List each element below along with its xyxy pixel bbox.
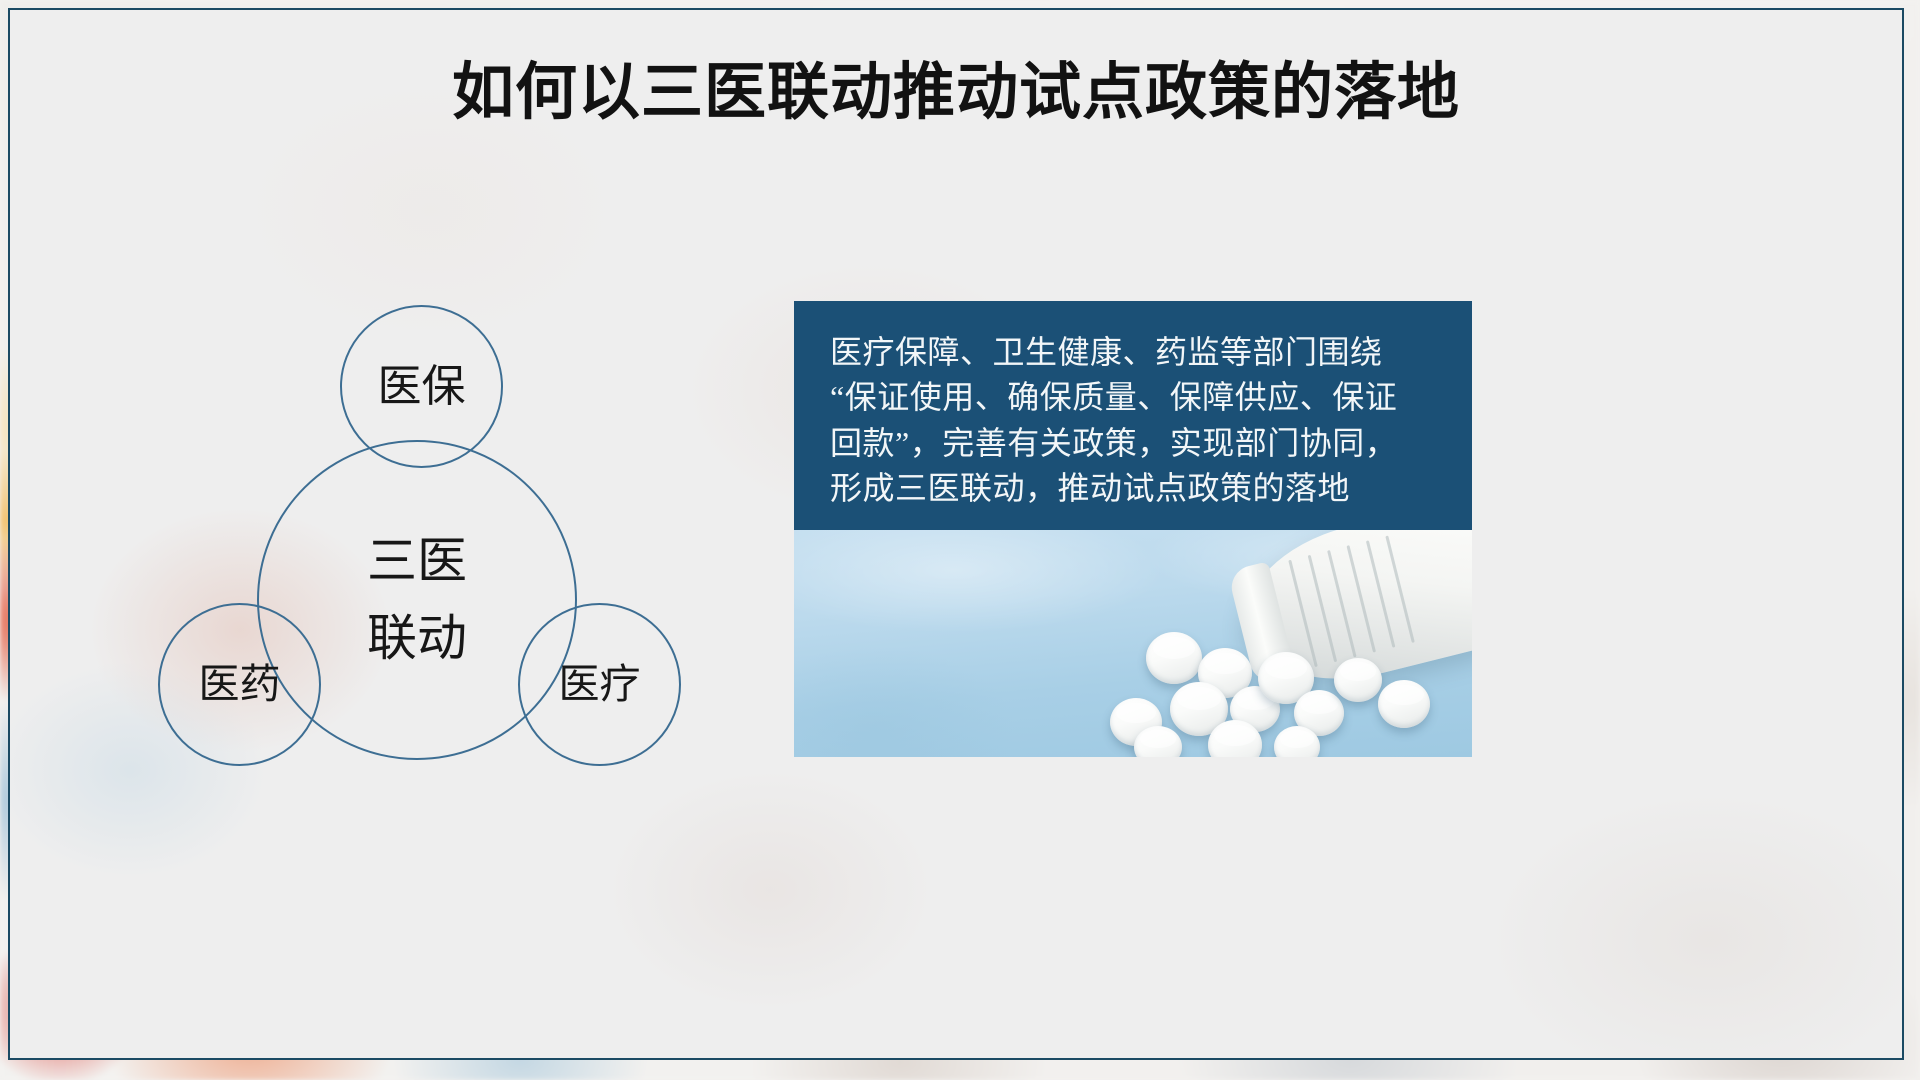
diagram-circle-healthcare[interactable]: 医疗: [518, 603, 681, 766]
pills-photo: [794, 530, 1472, 757]
pill: [1146, 632, 1202, 684]
diagram-circle-label-pharmacy: 医药: [199, 660, 281, 708]
diagram-circle-label-three-medical-linkage: 三医 联动: [367, 523, 467, 678]
info-panel: 医疗保障、卫生健康、药监等部门围绕 “保证使用、确保质量、保障供应、保证 回款”…: [794, 301, 1472, 530]
pill: [1378, 680, 1430, 728]
diagram-circle-label-healthcare: 医疗: [559, 660, 641, 708]
pill: [1334, 658, 1382, 702]
pill: [1134, 726, 1182, 757]
three-medical-linkage-venn: 医保 三医 联动 医药 医疗: [140, 290, 730, 760]
info-panel-body-text: 医疗保障、卫生健康、药监等部门围绕 “保证使用、确保质量、保障供应、保证 回款”…: [830, 330, 1458, 512]
diagram-circle-label-medical-insurance: 医保: [378, 361, 466, 413]
diagram-circle-pharmacy[interactable]: 医药: [158, 603, 321, 766]
slide-frame: 如何以三医联动推动试点政策的落地 医保 三医 联动 医药 医疗 医疗保障、卫生健…: [8, 8, 1904, 1060]
page-title: 如何以三医联动推动试点政策的落地: [10, 58, 1902, 129]
slide-root: 如何以三医联动推动试点政策的落地 医保 三医 联动 医药 医疗 医疗保障、卫生健…: [0, 0, 1920, 1080]
